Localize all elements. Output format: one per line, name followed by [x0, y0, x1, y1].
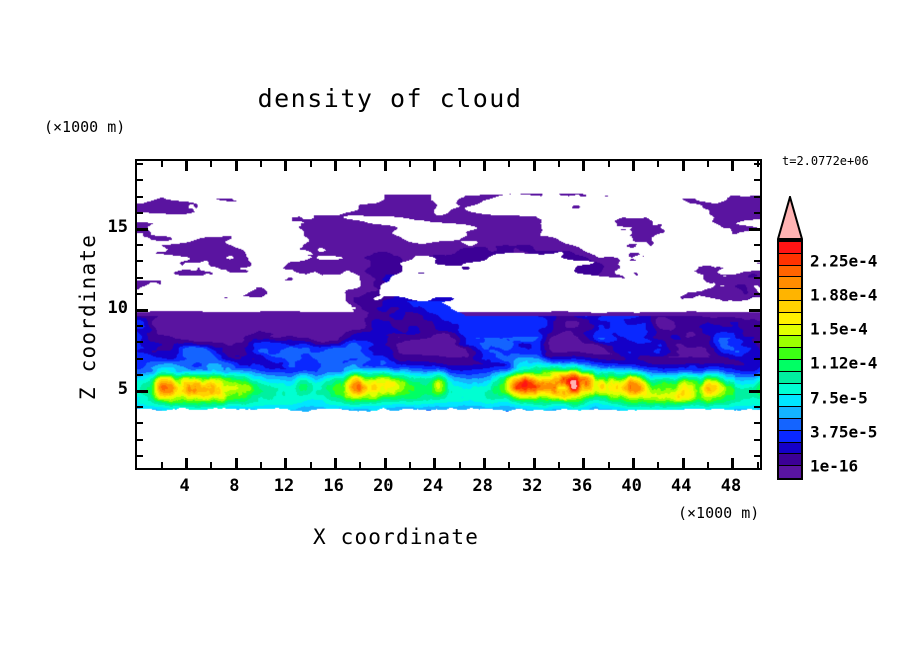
tick-mark — [137, 358, 143, 360]
plot-area — [135, 159, 762, 470]
colorbar-band — [779, 348, 801, 360]
tick-mark — [137, 406, 143, 408]
tick-mark — [707, 462, 709, 468]
tick-mark — [707, 161, 709, 167]
x-tick-label: 32 — [522, 476, 542, 496]
tick-mark — [754, 422, 760, 424]
tick-mark — [284, 161, 287, 171]
tick-mark — [682, 161, 685, 171]
colorbar-band — [779, 431, 801, 443]
tick-mark — [754, 277, 760, 279]
tick-mark — [310, 161, 312, 167]
time-annotation: t=2.0772e+06 — [782, 154, 869, 168]
x-tick-label: 12 — [274, 476, 294, 496]
colorbar-tick-label: 3.75e-5 — [810, 423, 877, 442]
tick-mark — [433, 161, 436, 171]
y-tick-label: 15 — [104, 217, 128, 237]
tick-mark — [137, 228, 148, 231]
tick-mark — [137, 325, 143, 327]
tick-mark — [754, 244, 760, 246]
colorbar-tick-label: 1.12e-4 — [810, 354, 877, 373]
tick-mark — [754, 374, 760, 376]
tick-mark — [558, 161, 560, 167]
colorbar-band — [779, 395, 801, 407]
y-tick-label: 5 — [104, 379, 128, 399]
tick-mark — [161, 462, 163, 468]
colorbar-band — [779, 419, 801, 431]
colorbar-band — [779, 254, 801, 266]
tick-mark — [459, 161, 461, 167]
tick-mark — [137, 244, 143, 246]
tick-mark — [657, 462, 659, 468]
colorbar-tick-label: 2.25e-4 — [810, 251, 877, 270]
x-tick-label: 48 — [721, 476, 741, 496]
tick-mark — [632, 161, 635, 171]
x-tick-label: 44 — [671, 476, 691, 496]
tick-mark — [137, 277, 143, 279]
tick-mark — [137, 374, 143, 376]
tick-mark — [334, 161, 337, 171]
colorbar-band — [779, 313, 801, 325]
tick-mark — [137, 212, 143, 214]
colorbar-band — [779, 454, 801, 466]
tick-mark — [508, 462, 510, 468]
x-axis-unit-label: (×1000 m) — [678, 504, 759, 522]
tick-mark — [409, 462, 411, 468]
colorbar-tick-label: 1.88e-4 — [810, 285, 877, 304]
tick-mark — [754, 179, 760, 181]
x-tick-label: 20 — [373, 476, 393, 496]
tick-mark — [754, 341, 760, 343]
tick-mark — [384, 161, 387, 171]
colorbar-band — [779, 407, 801, 419]
y-tick-label: 10 — [104, 298, 128, 318]
tick-mark — [137, 439, 143, 441]
tick-mark — [185, 161, 188, 171]
x-tick-label: 40 — [621, 476, 641, 496]
y-axis-unit-label: (×1000 m) — [44, 118, 125, 136]
tick-mark — [334, 458, 337, 468]
tick-mark — [359, 161, 361, 167]
y-axis-label: Z coordinate — [76, 217, 100, 417]
tick-mark — [632, 458, 635, 468]
tick-mark — [185, 458, 188, 468]
tick-mark — [409, 161, 411, 167]
tick-mark — [754, 212, 760, 214]
tick-mark — [235, 458, 238, 468]
figure-root: density of cloud (×1000 m) t=2.0772e+06 … — [0, 0, 904, 654]
colorbar-tick-label: 1.5e-4 — [810, 320, 868, 339]
tick-mark — [754, 325, 760, 327]
colorbar-band — [779, 277, 801, 289]
tick-mark — [137, 196, 143, 198]
colorbar-band — [779, 301, 801, 313]
tick-mark — [483, 458, 486, 468]
tick-mark — [433, 458, 436, 468]
colorbar-band — [779, 325, 801, 337]
colorbar-bands — [777, 240, 803, 480]
tick-mark — [359, 462, 361, 468]
tick-mark — [310, 462, 312, 468]
tick-mark — [137, 309, 148, 312]
tick-mark — [754, 358, 760, 360]
page-title: density of cloud — [0, 84, 842, 113]
colorbar-tick-label: 1e-16 — [810, 457, 858, 476]
tick-mark — [754, 439, 760, 441]
tick-mark — [210, 462, 212, 468]
tick-mark — [749, 228, 760, 231]
x-axis-label: X coordinate — [0, 525, 848, 549]
x-tick-label: 28 — [472, 476, 492, 496]
colorbar-extend-arrow-icon — [777, 196, 803, 240]
tick-mark — [384, 458, 387, 468]
tick-mark — [558, 462, 560, 468]
tick-mark — [137, 455, 143, 457]
tick-mark — [210, 161, 212, 167]
colorbar-band — [779, 466, 801, 478]
x-tick-label: 16 — [323, 476, 343, 496]
colorbar-band — [779, 360, 801, 372]
tick-mark — [533, 458, 536, 468]
tick-mark — [137, 422, 143, 424]
tick-mark — [533, 161, 536, 171]
tick-mark — [235, 161, 238, 171]
tick-mark — [754, 455, 760, 457]
tick-mark — [749, 390, 760, 393]
colorbar-band — [779, 443, 801, 455]
tick-mark — [754, 163, 760, 165]
tick-mark — [137, 179, 143, 181]
tick-mark — [731, 458, 734, 468]
colorbar-band — [779, 384, 801, 396]
tick-mark — [749, 309, 760, 312]
tick-mark — [754, 406, 760, 408]
tick-mark — [757, 462, 759, 468]
colorbar — [777, 196, 803, 480]
tick-mark — [582, 458, 585, 468]
tick-mark — [682, 458, 685, 468]
x-tick-label: 4 — [180, 476, 190, 496]
tick-mark — [508, 161, 510, 167]
tick-mark — [754, 293, 760, 295]
tick-mark — [608, 462, 610, 468]
tick-mark — [137, 390, 148, 393]
colorbar-band — [779, 336, 801, 348]
tick-mark — [754, 260, 760, 262]
tick-mark — [582, 161, 585, 171]
colorbar-band — [779, 266, 801, 278]
tick-mark — [754, 196, 760, 198]
tick-mark — [137, 293, 143, 295]
tick-mark — [284, 458, 287, 468]
tick-mark — [137, 260, 143, 262]
tick-mark — [459, 462, 461, 468]
x-tick-label: 36 — [572, 476, 592, 496]
tick-mark — [483, 161, 486, 171]
tick-mark — [260, 462, 262, 468]
x-tick-label: 24 — [423, 476, 443, 496]
cloud-density-field — [137, 161, 760, 468]
colorbar-band — [779, 242, 801, 254]
colorbar-band — [779, 372, 801, 384]
tick-mark — [161, 161, 163, 167]
tick-mark — [137, 341, 143, 343]
tick-mark — [260, 161, 262, 167]
colorbar-tick-label: 7.5e-5 — [810, 388, 868, 407]
tick-mark — [731, 161, 734, 171]
tick-mark — [657, 161, 659, 167]
tick-mark — [137, 163, 143, 165]
colorbar-band — [779, 289, 801, 301]
tick-mark — [608, 161, 610, 167]
x-tick-label: 8 — [229, 476, 239, 496]
